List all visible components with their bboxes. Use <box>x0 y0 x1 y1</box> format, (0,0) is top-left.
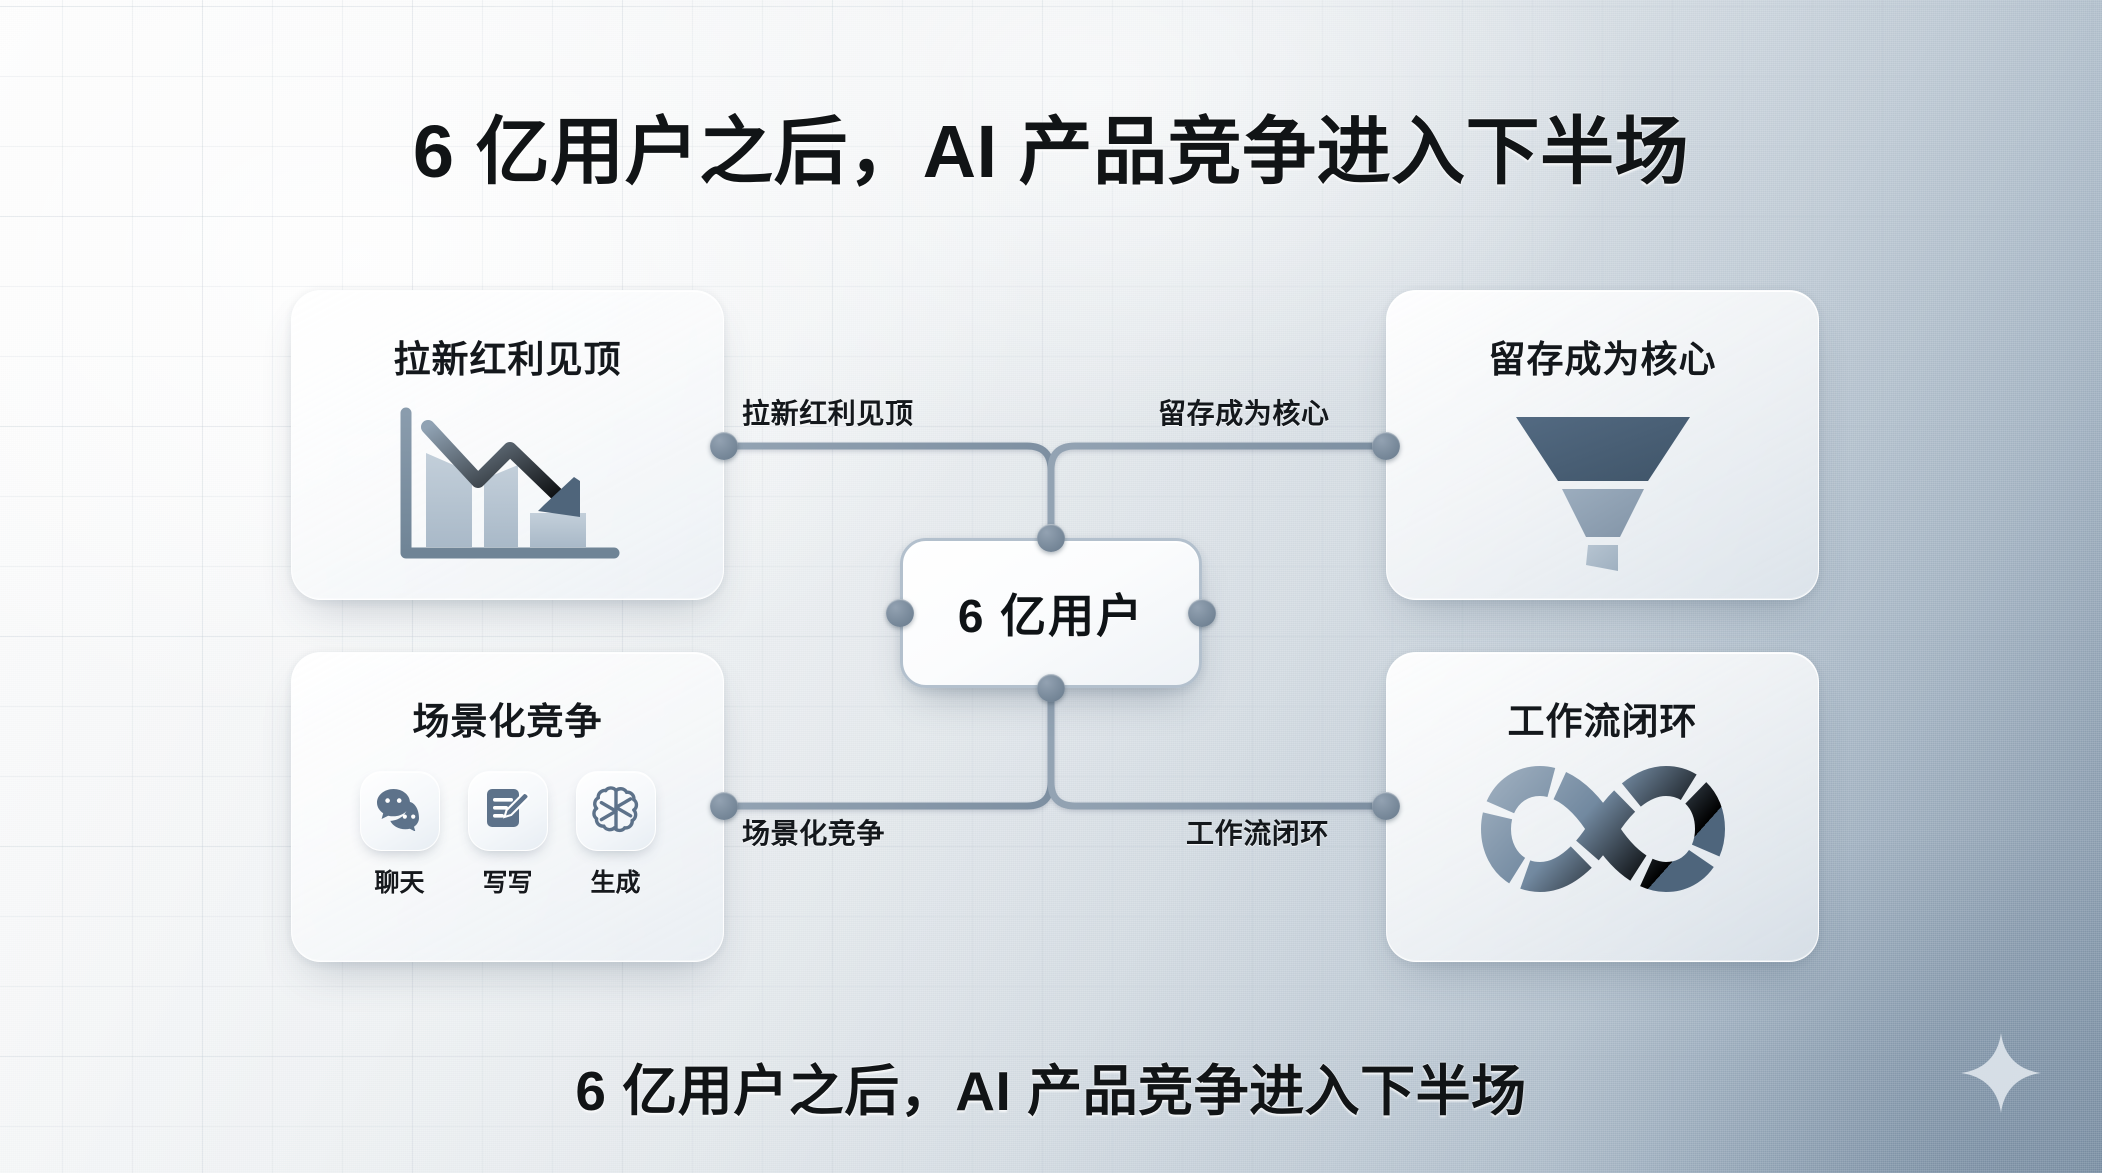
funnel-icon <box>1508 405 1698 573</box>
page-caption: 6 亿用户之后，AI 产品竞争进入下半场 <box>0 1046 2102 1126</box>
connector-label-retention: 留存成为核心 <box>1158 392 1330 432</box>
chat-bubbles-icon <box>375 787 425 836</box>
link-acquisition-to-center <box>724 446 1051 538</box>
slide-canvas: 6 亿用户之后，AI 产品竞争进入下半场 <box>0 0 2102 1173</box>
card-acquisition-title: 拉新红利见顶 <box>394 329 622 383</box>
center-node-dot-right[interactable] <box>1188 599 1216 627</box>
connector-label-workflow: 工作流闭环 <box>1186 812 1329 852</box>
connector-dot-retention[interactable] <box>1372 432 1400 460</box>
page-title: 6 亿用户之后，AI 产品竞争进入下半场 <box>0 92 2102 199</box>
app-write[interactable]: 写写 <box>468 771 548 899</box>
center-node-dot-bottom[interactable] <box>1037 674 1065 702</box>
connector-dot-acquisition[interactable] <box>710 432 738 460</box>
card-workflow[interactable]: 工作流闭环 <box>1386 652 1819 962</box>
infinity-loop-icon <box>1478 759 1728 899</box>
app-icon-row: 聊天 写写 <box>360 771 656 899</box>
app-write-tile[interactable] <box>468 771 548 851</box>
app-chat-tile[interactable] <box>360 771 440 851</box>
document-pencil-icon <box>484 785 532 838</box>
center-node-dot-top[interactable] <box>1037 524 1065 552</box>
center-node-dot-left[interactable] <box>886 599 914 627</box>
link-scenario-to-center <box>724 688 1051 806</box>
card-retention-title: 留存成为核心 <box>1489 329 1717 383</box>
openai-flower-icon <box>591 784 641 839</box>
sparkle-icon <box>1958 1030 2044 1121</box>
app-chat-label: 聊天 <box>374 863 424 899</box>
connector-label-acquisition: 拉新红利见顶 <box>742 392 914 432</box>
connector-dot-workflow[interactable] <box>1372 792 1400 820</box>
app-generate[interactable]: 生成 <box>576 771 656 899</box>
app-write-label: 写写 <box>482 863 532 899</box>
app-generate-tile[interactable] <box>576 771 656 851</box>
link-retention-to-center <box>1051 446 1386 538</box>
app-generate-label: 生成 <box>590 863 640 899</box>
card-scenario[interactable]: 场景化竞争 <box>291 652 724 962</box>
card-workflow-title: 工作流闭环 <box>1508 691 1698 745</box>
card-scenario-title: 场景化竞争 <box>413 691 603 745</box>
center-node-label: 6 亿用户 <box>958 580 1144 646</box>
connector-dot-scenario[interactable] <box>710 792 738 820</box>
card-acquisition[interactable]: 拉新红利见顶 <box>291 290 724 600</box>
link-workflow-to-center <box>1051 688 1386 806</box>
card-retention[interactable]: 留存成为核心 <box>1386 290 1819 600</box>
declining-bar-chart-icon <box>392 407 624 569</box>
app-chat[interactable]: 聊天 <box>360 771 440 899</box>
connector-label-scenario: 场景化竞争 <box>742 812 885 852</box>
center-node[interactable]: 6 亿用户 <box>900 538 1202 688</box>
